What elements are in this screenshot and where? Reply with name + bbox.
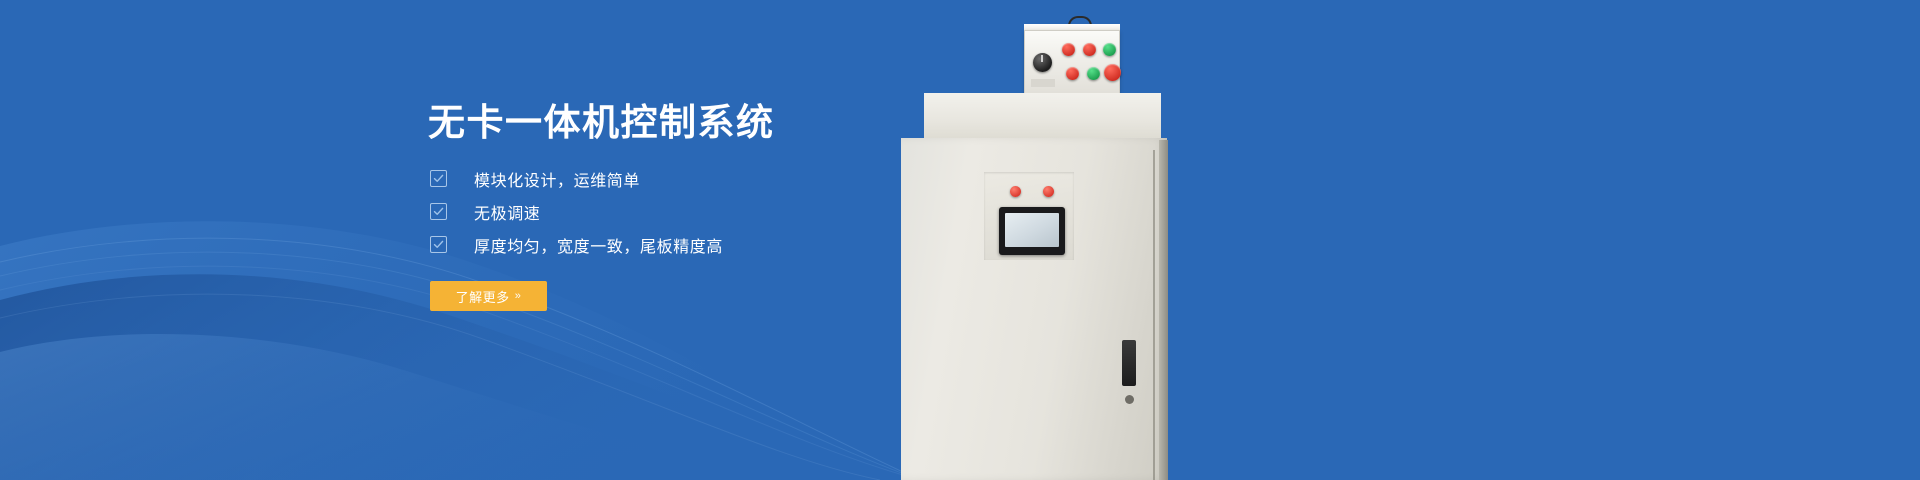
hero-banner: 无卡一体机控制系统 模块化设计，运维简单 无极调速 — [0, 0, 1920, 480]
learn-more-button[interactable]: 了解更多 » — [430, 281, 547, 311]
feature-label: 厚度均匀，宽度一致，尾板精度高 — [474, 233, 723, 257]
feature-list: 模块化设计，运维简单 无极调速 厚度均匀，宽度一致，尾板精度高 — [430, 162, 723, 261]
list-item: 厚度均匀，宽度一致，尾板精度高 — [430, 228, 723, 261]
checkbox-checked-icon — [430, 236, 447, 253]
chevron-right-icon: » — [515, 290, 522, 302]
hero-content: 无卡一体机控制系统 模块化设计，运维简单 无极调速 — [428, 0, 1188, 480]
learn-more-label: 了解更多 — [456, 287, 510, 306]
feature-label: 模块化设计，运维简单 — [474, 167, 640, 191]
list-item: 无极调速 — [430, 195, 723, 228]
checkbox-checked-icon — [430, 170, 447, 187]
page-title: 无卡一体机控制系统 — [428, 92, 775, 146]
list-item: 模块化设计，运维简单 — [430, 162, 723, 195]
checkbox-checked-icon — [430, 203, 447, 220]
feature-label: 无极调速 — [474, 200, 540, 224]
